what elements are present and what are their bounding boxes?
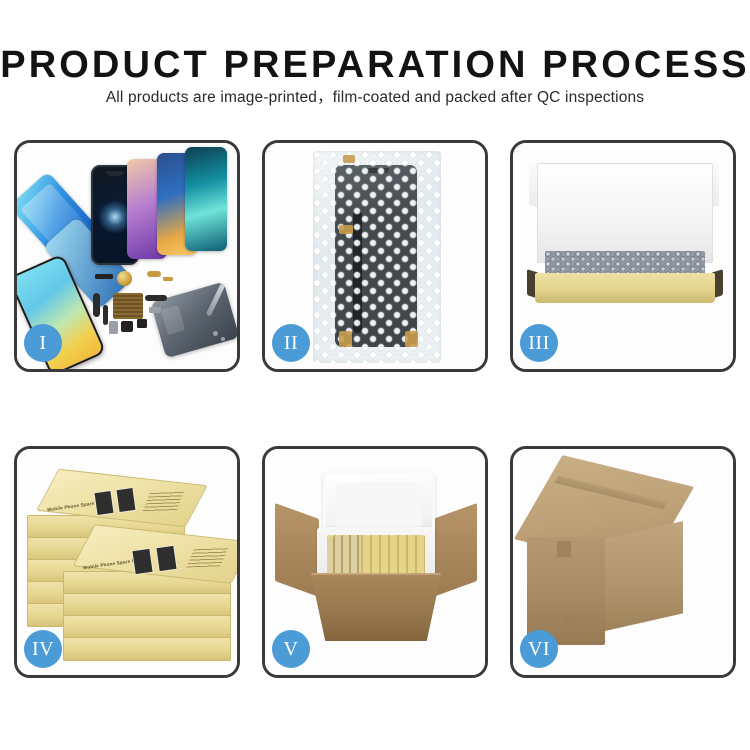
carton-body <box>311 575 441 641</box>
spec-text-lines <box>143 490 185 511</box>
screw-icon <box>213 331 218 336</box>
tape-piece-icon <box>339 225 353 234</box>
vibration-motor-icon <box>117 271 132 286</box>
logic-board-icon <box>113 293 143 319</box>
step-badge-6: VI <box>520 630 558 668</box>
charging-port-flex-icon <box>145 295 167 301</box>
box-artwork-thumb <box>115 487 136 513</box>
bubble-wrap-bag <box>313 151 441 363</box>
tape-piece-icon <box>405 331 418 347</box>
step-badge-4: IV <box>24 630 62 668</box>
process-step-panel-5: V <box>262 446 488 678</box>
camera-module-icon <box>109 321 118 334</box>
gold-bracket-icon <box>163 277 173 281</box>
teal-phone-icon <box>185 147 227 251</box>
process-step-panel-2: II <box>262 140 488 372</box>
kraft-box-tray <box>535 273 715 303</box>
carton-flap-right <box>433 503 477 597</box>
screw-icon <box>221 337 225 341</box>
bubble-texture <box>313 151 441 363</box>
gold-connector-icon <box>147 271 161 277</box>
box-artwork-thumb <box>155 545 177 572</box>
step-badge-2: II <box>272 324 310 362</box>
process-step-panel-6: VI <box>510 446 736 678</box>
stacked-box <box>63 615 231 639</box>
carton-side-face <box>605 521 683 631</box>
carton-tab-icon <box>557 541 571 557</box>
box-stack: Mobile Phone Spare Parts Mobile Phone Sp… <box>23 463 231 661</box>
carton-tab-icon <box>563 615 576 630</box>
process-step-grid: I II <box>14 140 736 678</box>
stacked-box <box>63 637 231 661</box>
process-step-panel-4: Mobile Phone Spare Parts Mobile Phone Sp… <box>14 446 240 678</box>
page-subtitle: All products are image-printed，film-coat… <box>0 90 750 106</box>
earpiece-speaker-icon <box>95 274 113 279</box>
metal-bracket-icon <box>149 307 161 313</box>
step-badge-1: I <box>24 324 62 362</box>
flex-cable-icon <box>103 305 108 325</box>
sim-tray-icon <box>137 319 147 328</box>
white-box-lid <box>537 163 713 263</box>
process-step-panel-3: III <box>510 140 736 372</box>
product-preparation-infographic: PRODUCT PREPARATION PROCESS All products… <box>0 0 750 750</box>
box-artwork-thumb <box>93 490 114 516</box>
stacked-box <box>63 593 231 617</box>
carton-flap-left <box>275 503 319 597</box>
spec-text-lines <box>186 546 228 567</box>
tape-piece-icon <box>339 331 352 347</box>
process-step-panel-1: I <box>14 140 240 372</box>
box-artwork-thumb <box>131 548 153 575</box>
flex-cable-icon <box>93 293 100 317</box>
step-badge-5: V <box>272 630 310 668</box>
step-badge-3: III <box>520 324 558 362</box>
phone-rear-housing-icon <box>150 282 237 359</box>
speaker-module-icon <box>121 321 133 332</box>
page-title: PRODUCT PREPARATION PROCESS <box>0 46 750 84</box>
tape-piece-icon <box>343 155 355 163</box>
